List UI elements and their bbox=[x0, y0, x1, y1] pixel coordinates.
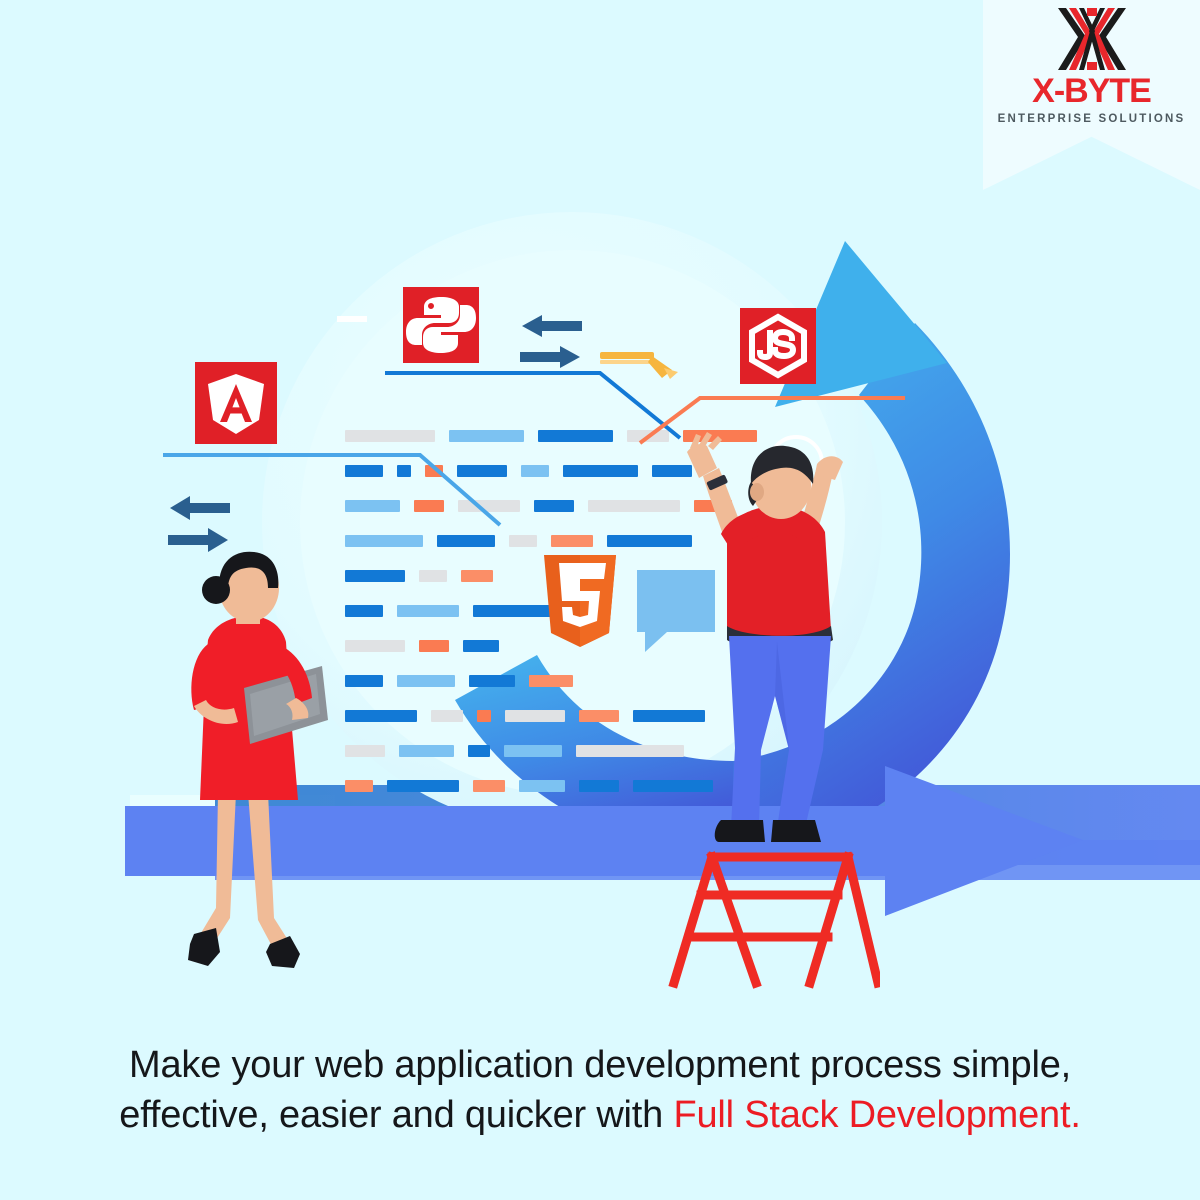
nodejs-icon[interactable] bbox=[740, 308, 816, 384]
woman-with-tablet bbox=[170, 548, 345, 988]
man-on-ladder bbox=[665, 430, 890, 875]
exchange-arrows-left bbox=[168, 495, 230, 553]
brand-ribbon: X-BYTE ENTERPRISE SOLUTIONS bbox=[983, 0, 1200, 190]
brand-tagline: ENTERPRISE SOLUTIONS bbox=[983, 113, 1200, 125]
exchange-arrows-top bbox=[520, 315, 582, 370]
python-icon[interactable] bbox=[403, 287, 479, 363]
white-dash-deco bbox=[337, 313, 367, 325]
poster-canvas: X-BYTE ENTERPRISE SOLUTIONS Make your we… bbox=[0, 0, 1200, 1200]
x-byte-hourglass-mark bbox=[1052, 8, 1132, 70]
html5-icon[interactable] bbox=[538, 555, 622, 647]
pencil-icon bbox=[600, 348, 678, 380]
angular-icon[interactable] bbox=[195, 362, 277, 444]
brand-name: X-BYTE bbox=[983, 72, 1200, 111]
